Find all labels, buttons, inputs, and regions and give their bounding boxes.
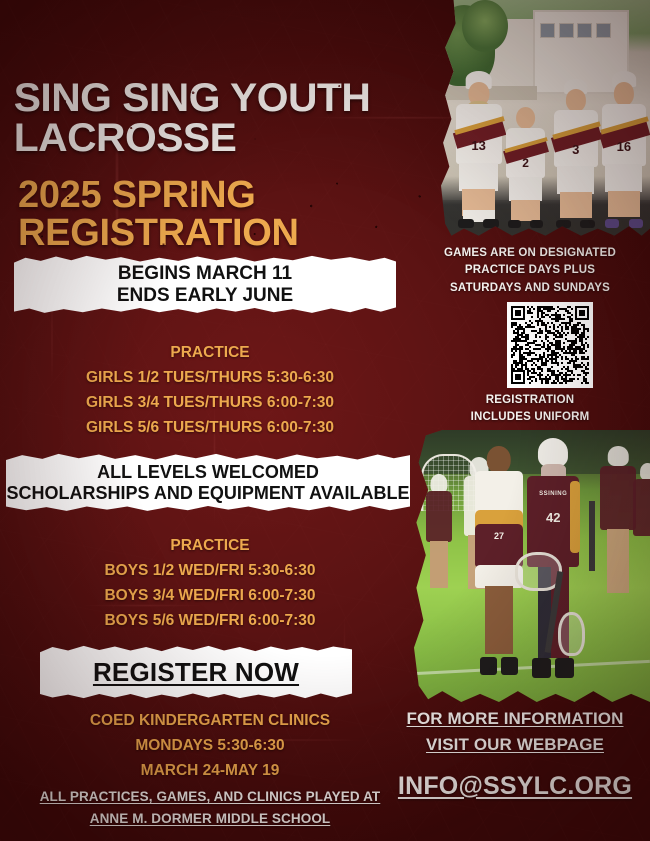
player-27: 27 <box>475 446 522 674</box>
qr-note-line-2: INCLUDES UNIFORM <box>430 409 630 426</box>
clinics-line-2: MARCH 24-MAY 19 <box>0 758 420 783</box>
duo-photo: 27 42 SSINING <box>414 430 650 702</box>
player-3: 3 <box>554 79 598 229</box>
games-note: GAMES ARE ON DESIGNATED PRACTICE DAYS PL… <box>430 245 630 297</box>
poster-subtitle-text: 2025 SPRING REGISTRATION <box>18 176 448 252</box>
poster-subtitle: 2025 SPRING REGISTRATION <box>18 176 448 252</box>
contact-line-2: VISIT OUR WEBPAGE <box>386 732 644 758</box>
player-13: 13 <box>456 71 502 228</box>
clinics-line-1: MONDAYS 5:30-6:30 <box>0 733 420 758</box>
jersey-number: 27 <box>475 531 522 541</box>
jersey-number: 42 <box>527 510 579 525</box>
lacrosse-stick-head-2 <box>558 612 585 656</box>
player-16: 16 <box>602 71 646 228</box>
games-note-line-1: GAMES ARE ON DESIGNATED <box>430 245 630 262</box>
levels-line-1: ALL LEVELS WELCOMED <box>97 462 319 483</box>
dates-banner: BEGINS MARCH 11 ENDS EARLY JUNE <box>14 254 396 316</box>
boys-practice-line-2: BOYS 3/4 WED/FRI 6:00-7:30 <box>0 583 420 608</box>
girls-practice-line-3: GIRLS 5/6 TUES/THURS 6:00-7:30 <box>0 415 420 440</box>
boys-practice-line-3: BOYS 5/6 WED/FRI 6:00-7:30 <box>0 608 420 633</box>
jersey-number: 13 <box>456 138 502 153</box>
boys-practice-heading: PRACTICE <box>0 533 420 558</box>
venue-note: ALL PRACTICES, GAMES, AND CLINICS PLAYED… <box>8 786 412 830</box>
team-photo: 13 2 <box>441 0 650 238</box>
photo-shrub-2 <box>462 0 508 52</box>
register-now-label[interactable]: REGISTER NOW <box>93 657 299 688</box>
levels-banner: ALL LEVELS WELCOMED SCHOLARSHIPS AND EQU… <box>6 452 410 514</box>
background-player-right <box>600 446 635 598</box>
background-player-left <box>426 474 452 594</box>
contact-line-1: FOR MORE INFORMATION <box>386 706 644 732</box>
jersey-number: 2 <box>506 156 546 170</box>
levels-line-2: SCHOLARSHIPS AND EQUIPMENT AVAILABLE <box>6 483 409 504</box>
girls-practice-block: PRACTICE GIRLS 1/2 TUES/THURS 5:30-6:30 … <box>0 340 420 440</box>
contact-email[interactable]: INFO@SSYLC.ORG <box>386 772 644 801</box>
player-2: 2 <box>506 105 546 229</box>
qr-code-icon[interactable] <box>507 302 593 388</box>
register-now-banner[interactable]: REGISTER NOW <box>40 643 352 701</box>
games-note-line-3: SATURDAYS AND SUNDAYS <box>430 280 630 297</box>
background-player-far-right <box>633 463 650 599</box>
lacrosse-stick-shaft-2 <box>589 501 595 572</box>
qr-note-line-1: REGISTRATION <box>430 392 630 409</box>
venue-line-1: ALL PRACTICES, GAMES, AND CLINICS PLAYED… <box>8 786 412 808</box>
poster-title-text: SING SING YOUTH LACROSSE <box>14 78 453 158</box>
venue-line-2: ANNE M. DORMER MIDDLE SCHOOL <box>8 808 412 830</box>
poster-title: SING SING YOUTH LACROSSE <box>14 78 453 158</box>
boys-practice-block: PRACTICE BOYS 1/2 WED/FRI 5:30-6:30 BOYS… <box>0 533 420 633</box>
boys-practice-line-1: BOYS 1/2 WED/FRI 5:30-6:30 <box>0 558 420 583</box>
contact-email-text[interactable]: INFO@SSYLC.ORG <box>386 772 644 801</box>
dates-line-2: ENDS EARLY JUNE <box>117 285 293 307</box>
clinics-heading: COED KINDERGARTEN CLINICS <box>0 708 420 733</box>
girls-practice-line-2: GIRLS 3/4 TUES/THURS 6:00-7:30 <box>0 390 420 415</box>
girls-practice-heading: PRACTICE <box>0 340 420 365</box>
girls-practice-line-1: GIRLS 1/2 TUES/THURS 5:30-6:30 <box>0 365 420 390</box>
contact-note: FOR MORE INFORMATION VISIT OUR WEBPAGE <box>386 706 644 757</box>
flyer-poster: 13 2 <box>0 0 650 841</box>
qr-note: REGISTRATION INCLUDES UNIFORM <box>430 392 630 427</box>
clinics-block: COED KINDERGARTEN CLINICS MONDAYS 5:30-6… <box>0 708 420 783</box>
jersey-wordmark: SSINING <box>527 491 579 497</box>
games-note-line-2: PRACTICE DAYS PLUS <box>430 262 630 279</box>
jersey-number: 16 <box>602 139 646 154</box>
dates-line-1: BEGINS MARCH 11 <box>118 263 292 285</box>
jersey-number: 3 <box>554 142 598 157</box>
